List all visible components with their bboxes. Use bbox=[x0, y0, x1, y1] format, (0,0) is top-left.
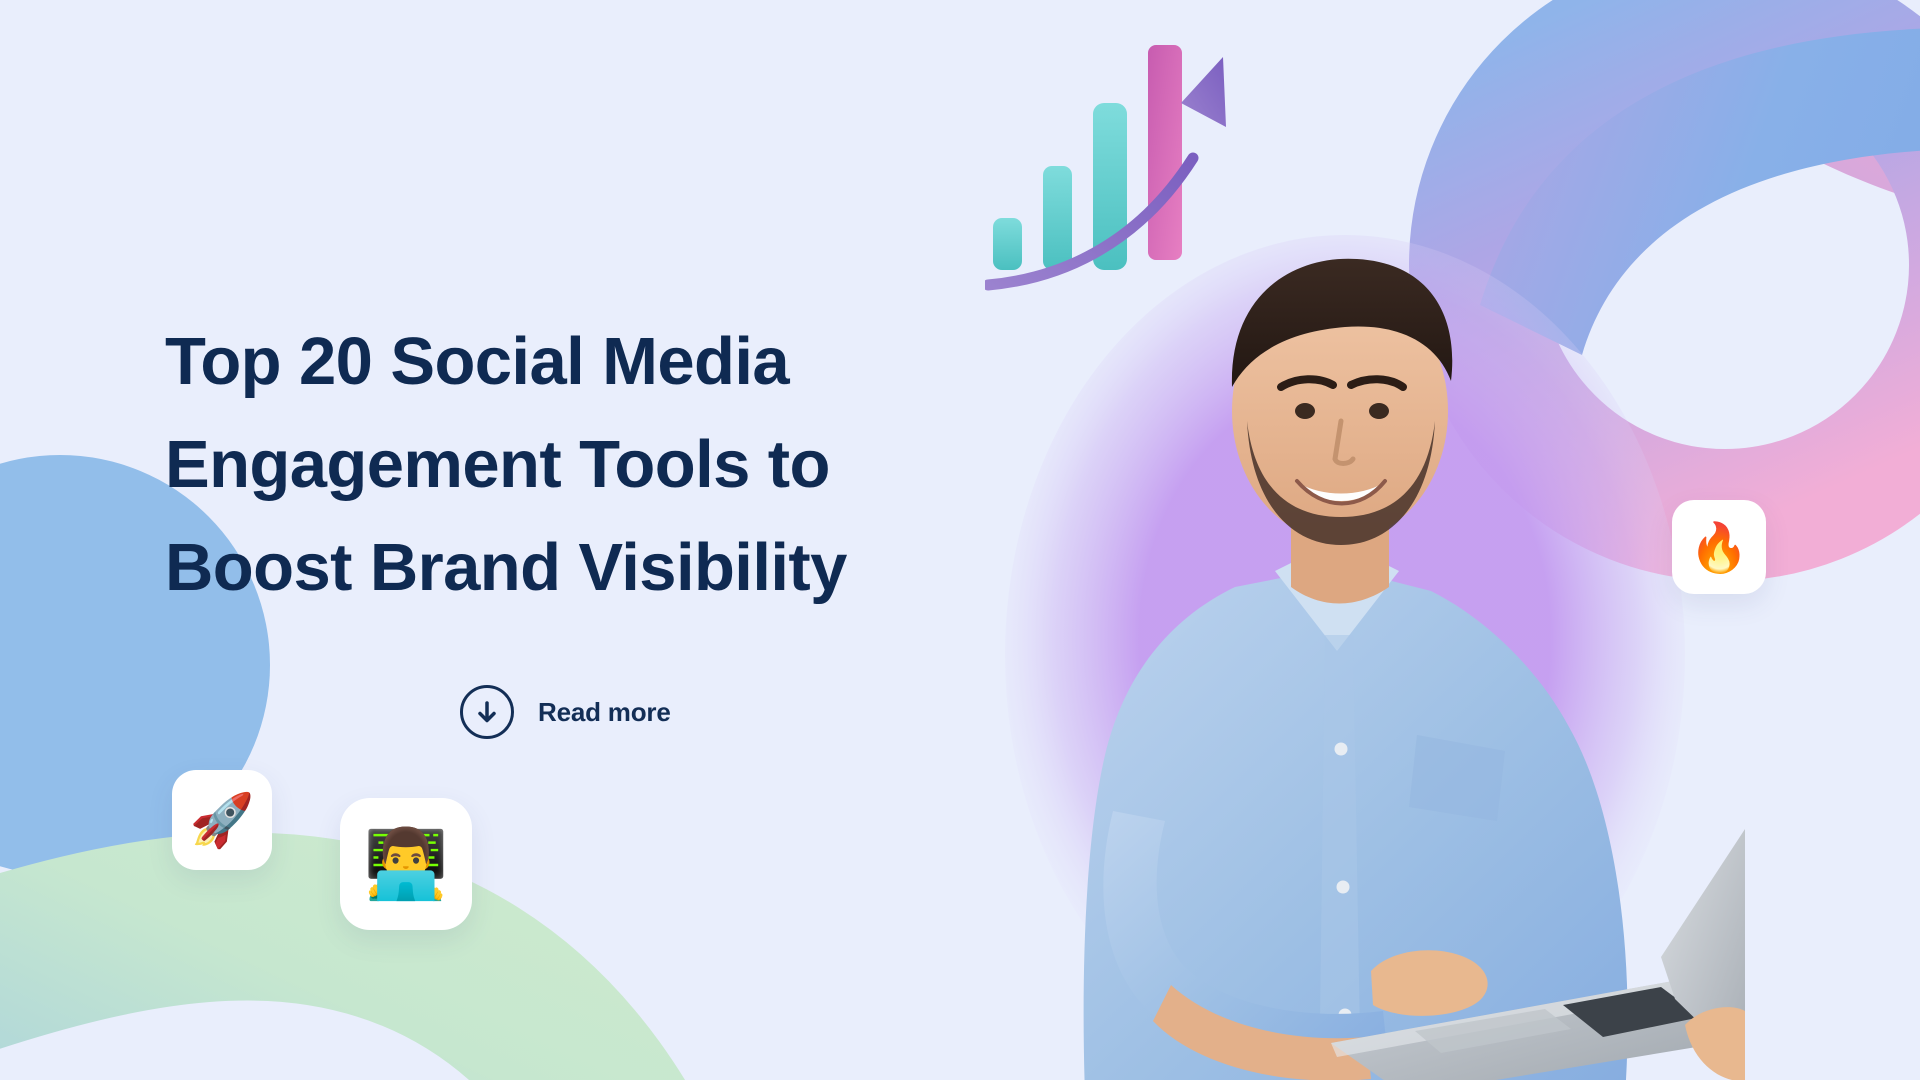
rocket-icon: 🚀 bbox=[190, 790, 255, 851]
hero-content: Top 20 Social Media Engagement Tools to … bbox=[165, 310, 965, 739]
technologist-icon: 👨‍💻 bbox=[364, 824, 449, 904]
read-more-label: Read more bbox=[538, 697, 671, 728]
rocket-emoji-tile: 🚀 bbox=[172, 770, 272, 870]
gradient-ring-decoration bbox=[1330, 0, 1920, 635]
technologist-emoji-tile: 👨‍💻 bbox=[340, 798, 472, 930]
fire-icon: 🔥 bbox=[1689, 519, 1749, 576]
growth-chart-illustration bbox=[985, 35, 1265, 295]
hero-person-photo bbox=[985, 215, 1745, 1080]
read-more-button[interactable]: Read more bbox=[460, 685, 671, 739]
fire-emoji-tile: 🔥 bbox=[1672, 500, 1766, 594]
hero-banner: Top 20 Social Media Engagement Tools to … bbox=[0, 0, 1920, 1080]
page-title: Top 20 Social Media Engagement Tools to … bbox=[165, 310, 965, 619]
arrow-down-circle-icon bbox=[460, 685, 514, 739]
